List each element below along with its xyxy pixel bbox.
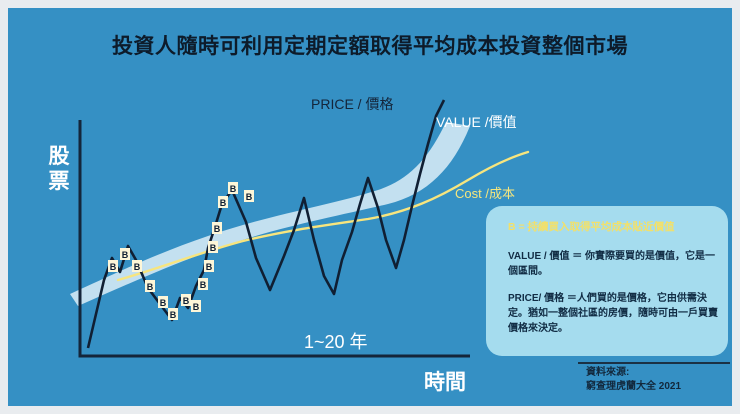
legend-line-buy: B = 持續買入取得平均成本貼近價值 [508,220,718,235]
buy-marker: B [228,182,238,194]
svg-text:B: B [183,296,190,306]
svg-text:B: B [210,243,217,253]
buy-marker: B [218,196,228,208]
buy-marker: B [158,296,168,308]
buy-marker: B [108,260,118,272]
buy-marker: B [132,260,142,272]
svg-text:B: B [200,280,207,290]
svg-text:B: B [214,224,221,234]
y-axis-label: 股票 [44,144,74,194]
infographic-canvas: 投資人隨時可利用定期定額取得平均成本投資整個市場 B B B B B B B B… [8,8,732,406]
source-value: 窮查理虎蘭大全 2021 [586,380,726,394]
buy-marker: B [168,308,178,320]
time-span-label: 1~20 年 [304,328,368,354]
svg-text:B: B [206,262,213,272]
buy-marker: B [120,248,130,260]
svg-text:B: B [110,262,117,272]
legend-panel: B = 持續買入取得平均成本貼近價值 VALUE / 價值 ＝ 你實際要買的是價… [486,206,728,356]
x-axis-label: 時間 [424,366,466,396]
buy-marker: B [204,260,214,272]
price-series-label: PRICE / 價格 [311,94,393,114]
svg-text:B: B [193,302,200,312]
legend-line-value: VALUE / 價值 ＝ 你實際要買的是價值，它是一個區間。 [508,249,718,279]
svg-text:B: B [134,262,141,272]
infographic-root: 投資人隨時可利用定期定額取得平均成本投資整個市場 B B B B B B B B… [0,0,740,414]
svg-text:B: B [160,298,167,308]
source-label: 資料來源: [586,366,726,380]
source-divider [578,362,730,364]
legend-line-price: PRICE/ 價格 ＝人們買的是價格，它由供需決定。猶如一整個社區的房價，隨時可… [508,291,718,336]
buy-marker: B [145,280,155,292]
svg-text:B: B [122,250,129,260]
buy-marker: B [212,222,222,234]
buy-marker: B [181,294,191,306]
source-block: 資料來源: 窮查理虎蘭大全 2021 [586,366,726,394]
svg-text:B: B [147,282,154,292]
value-series-label: VALUE /價值 [436,112,517,132]
chart-axes [80,120,470,356]
buy-marker: B [191,300,201,312]
cost-series-label: Cost /成本 [455,183,515,202]
buy-marker: B [198,278,208,290]
svg-text:B: B [220,198,227,208]
buy-marker: B [208,241,218,253]
svg-text:B: B [230,184,237,194]
svg-text:B: B [170,310,177,320]
buy-marker: B [244,190,254,202]
svg-text:B: B [246,192,253,202]
